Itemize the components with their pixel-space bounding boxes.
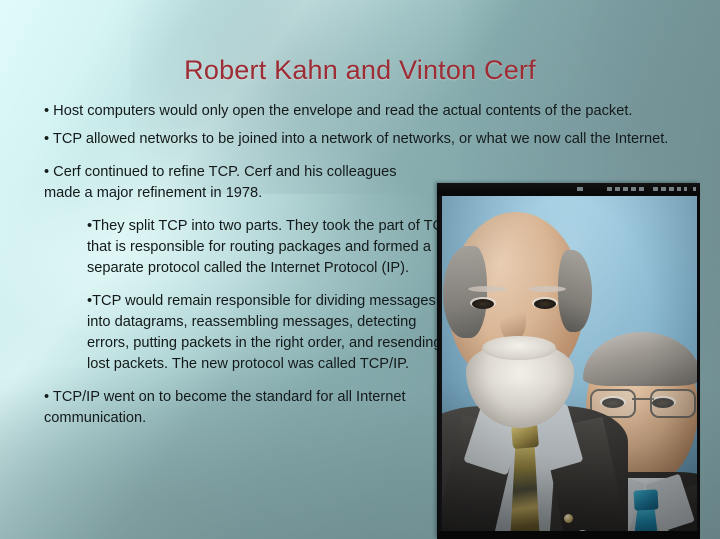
slide-photo (437, 183, 700, 539)
photo-person-left-hair-left (443, 246, 487, 338)
photo-person-left-eye-right (534, 299, 556, 309)
bullet-item-3: • Cerf continued to refine TCP. Cerf and… (44, 162, 419, 204)
photo-person-left-eye-left (472, 299, 494, 309)
filmstrip-mark (661, 187, 666, 191)
filmstrip-mark (653, 187, 658, 191)
filmstrip-mark (607, 187, 612, 191)
photo-person-left-lapel-pin (564, 514, 573, 523)
filmstrip-mark (693, 187, 696, 191)
filmstrip-mark (615, 187, 620, 191)
photo-person-left-mustache (482, 336, 556, 360)
bullet-item-2: • TCP allowed networks to be joined into… (44, 129, 684, 150)
presentation-slide: Robert Kahn and Vinton Cerf • Host compu… (0, 0, 720, 539)
filmstrip-mark (631, 187, 636, 191)
photo-border-left (437, 183, 442, 539)
photo-image-area (442, 194, 697, 532)
slide-title: Robert Kahn and Vinton Cerf (0, 54, 720, 86)
bullet-item-5: •TCP would remain responsible for dividi… (44, 291, 462, 375)
filmstrip-mark (639, 187, 644, 191)
bullet-item-1: • Host computers would only open the env… (44, 101, 684, 122)
photo-person-left-brow-left (468, 286, 506, 292)
bullet-item-4: •They split TCP into two parts. They too… (44, 216, 462, 279)
filmstrip-mark (669, 187, 674, 191)
filmstrip-mark (577, 187, 583, 191)
photo-border-bottom (437, 531, 700, 539)
filmstrip-mark (684, 187, 687, 191)
photo-border-right (697, 183, 700, 539)
photo-person-right-glasses-icon (590, 389, 696, 415)
filmstrip-mark (623, 187, 628, 191)
photo-person-left-brow-right (528, 286, 566, 292)
photo-filmstrip-header (437, 183, 700, 196)
glasses-lens-right (650, 389, 696, 418)
filmstrip-mark (677, 187, 681, 191)
photo-person-right-tie-knot (633, 489, 658, 510)
bullet-item-6: • TCP/IP went on to become the standard … (44, 387, 419, 429)
